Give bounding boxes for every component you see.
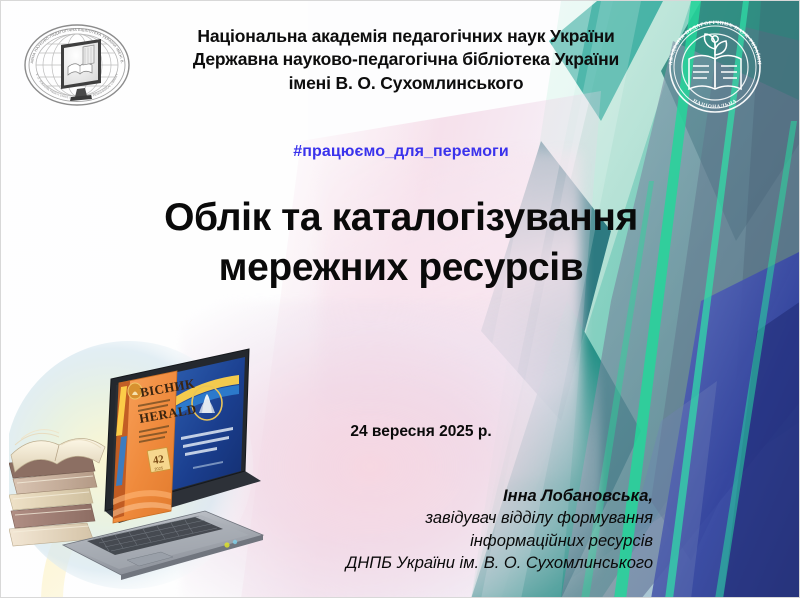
organization-line-3: імені В. О. Сухомлинського (151, 72, 661, 95)
organization-line-2: Державна науково-педагогічна бібліотека … (151, 48, 661, 71)
author-position-line-1: завідувач відділу формування (251, 507, 653, 529)
slide-title: Облік та каталогізування мережних ресурс… (121, 193, 681, 293)
author-affiliation: ДНПБ України ім. В. О. Сухомлинського (251, 552, 653, 574)
hashtag-slogan: #працюємо_для_перемоги (191, 143, 611, 161)
author-name: Інна Лобановська, (251, 485, 653, 507)
author-block: Інна Лобановська, завідувач відділу форм… (251, 485, 653, 575)
naps-ukraine-seal: АКАДЕМІЯ ПЕДАГОГІЧНИХ НАУК УКРАЇНИ НАЦІО… (656, 9, 774, 119)
organization-line-1: Національна академія педагогічних наук У… (151, 25, 661, 48)
presentation-slide: ДЕРЖАВНА НАУКОВО-ПЕДАГОГІЧНА БІБЛІОТЕКА … (0, 0, 800, 598)
author-position-line-2: інформаційних ресурсів (251, 530, 653, 552)
slide-title-line-1: Облік та каталогізування (121, 193, 681, 243)
presentation-date: 24 вересня 2025 р. (281, 423, 561, 441)
book-stack (9, 455, 97, 546)
dnpb-library-emblem: ДЕРЖАВНА НАУКОВО-ПЕДАГОГІЧНА БІБЛІОТЕКА … (17, 17, 137, 109)
slide-title-line-2: мережних ресурсів (121, 243, 681, 293)
organization-header: Національна академія педагогічних наук У… (151, 25, 661, 95)
books-and-laptop-photo: ВІСНИК HERALD 42 2025 (9, 339, 281, 597)
